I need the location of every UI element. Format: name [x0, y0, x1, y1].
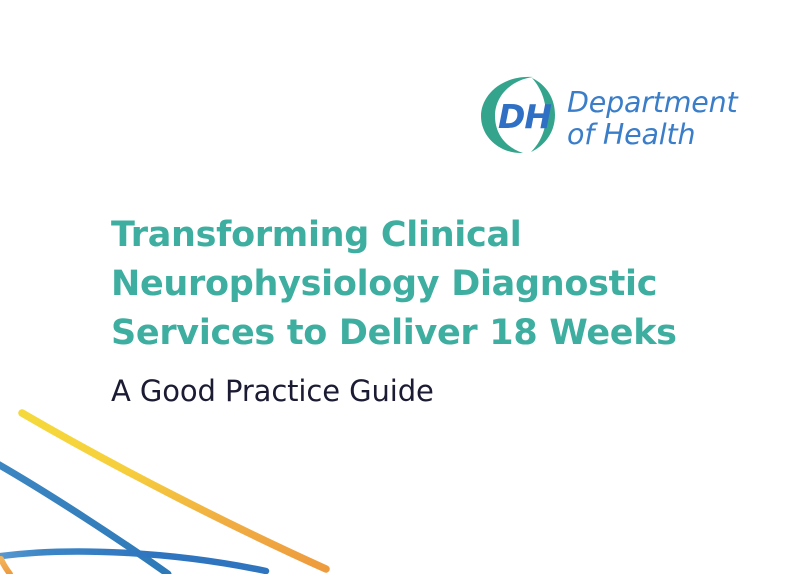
decor-curve-blue-diagonal	[0, 463, 168, 574]
document-title-line-1: Transforming Clinical	[111, 211, 751, 260]
svg-text:DH: DH	[498, 97, 551, 136]
logo-wordmark: Department of Health	[567, 87, 737, 151]
document-title-line-3: Services to Deliver 18 Weeks	[111, 309, 751, 358]
department-of-health-logo: DH Department of Health	[471, 68, 731, 164]
dh-crescent-mark-icon: DH	[471, 68, 563, 160]
decor-curve-orange-sliver	[1, 559, 10, 574]
title-block: Transforming Clinical Neurophysiology Di…	[111, 211, 751, 410]
document-title: Transforming Clinical Neurophysiology Di…	[111, 211, 751, 358]
decor-curve-yellow-orange	[22, 413, 326, 569]
document-title-line-2: Neurophysiology Diagnostic	[111, 260, 751, 309]
document-subtitle: A Good Practice Guide	[111, 372, 751, 410]
logo-wordmark-line-2: of Health	[567, 119, 737, 151]
document-cover-page: DH Department of Health Transforming Cli…	[0, 0, 789, 574]
decor-curve-blue-arc	[0, 552, 266, 571]
logo-wordmark-line-1: Department	[567, 87, 737, 119]
